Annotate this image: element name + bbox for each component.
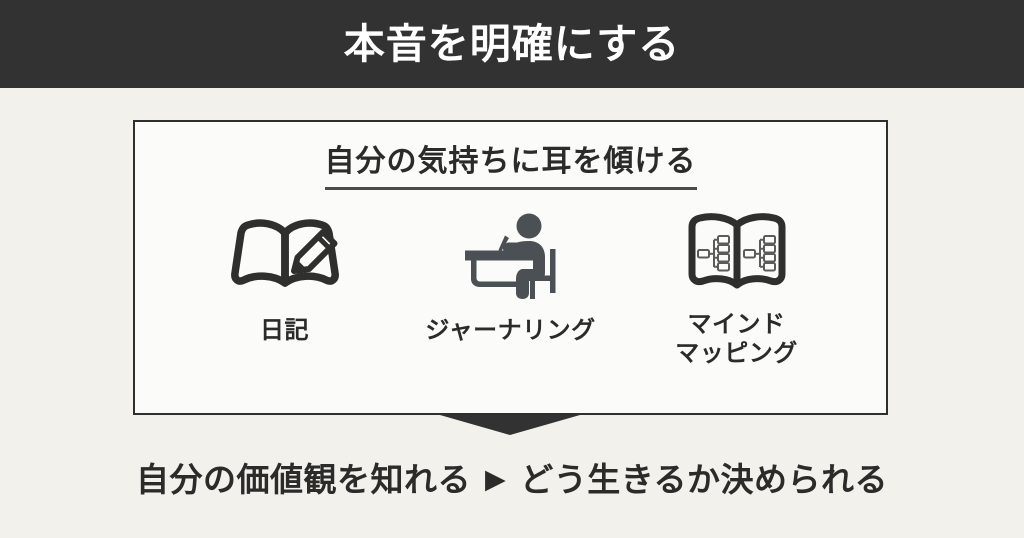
outcome-right-text: どう生きるか決められる	[520, 462, 888, 498]
method-item-diary: 日記	[177, 212, 392, 345]
open-book-mindmap-icon	[679, 212, 795, 300]
book-with-pencil-icon	[230, 212, 340, 300]
method-label-mindmapping: マインド マッピング	[675, 310, 798, 369]
outcome-statement: 自分の価値観を知れる ▶ どう生きるか決められる	[0, 462, 1024, 498]
method-label-journaling: ジャーナリング	[425, 316, 595, 345]
method-item-mindmapping: マインド マッピング	[629, 212, 844, 369]
method-item-journaling: ジャーナリング	[403, 212, 618, 345]
card-title: 自分の気持ちに耳を傾ける	[325, 144, 697, 190]
header-bar: 本音を明確にする	[0, 0, 1024, 88]
card-title-container: 自分の気持ちに耳を傾ける	[135, 144, 886, 190]
person-writing-at-desk-icon	[451, 212, 571, 300]
right-triangle-icon: ▶	[485, 466, 506, 493]
method-label-diary: 日記	[260, 316, 309, 345]
methods-card: 自分の気持ちに耳を傾ける	[133, 120, 888, 415]
page-title: 本音を明確にする	[344, 24, 680, 65]
outcome-left-text: 自分の価値観を知れる	[136, 462, 471, 498]
down-arrow-icon	[440, 415, 580, 435]
methods-list: 日記	[177, 212, 844, 369]
